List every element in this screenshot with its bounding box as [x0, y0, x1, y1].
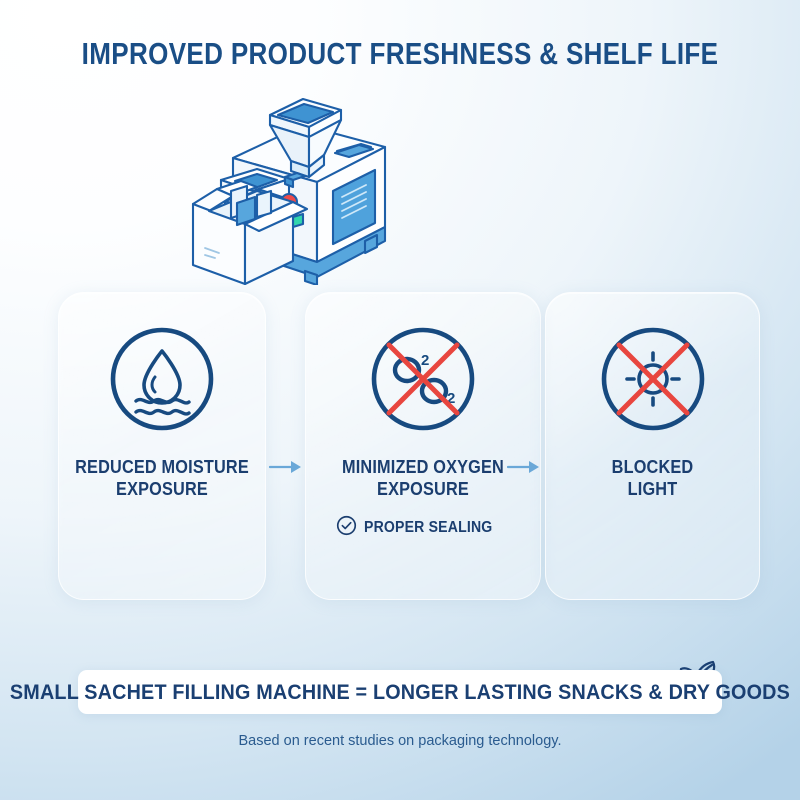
arrow-card1-to-card2	[269, 458, 303, 481]
svg-text:2: 2	[421, 352, 429, 369]
water-droplet-icon	[59, 325, 265, 433]
no-oxygen-icon: 2 2	[306, 325, 540, 433]
arrow-card2-to-card3	[507, 458, 541, 481]
status-badge-proper-sealing: PROPER SEALING	[306, 515, 540, 541]
card-label: BLOCKED LIGHT	[559, 456, 746, 500]
benefit-cards-row: REDUCED MOISTURE EXPOSURE 2 2 MINIMIZED …	[0, 292, 800, 602]
card-reduced-moisture[interactable]: REDUCED MOISTURE EXPOSURE	[58, 292, 266, 600]
card-label: REDUCED MOISTURE EXPOSURE	[71, 456, 252, 500]
no-sunlight-icon	[546, 325, 759, 433]
badge-label: PROPER SEALING	[364, 519, 492, 537]
banner-text: SMALL SACHET FILLING MACHINE = LONGER LA…	[10, 680, 790, 705]
sachet-filling-machine-illustration	[185, 85, 420, 285]
card-label: MINIMIZED OXYGEN EXPOSURE	[320, 456, 526, 500]
check-circle-icon	[336, 515, 357, 541]
card-minimized-oxygen[interactable]: 2 2 MINIMIZED OXYGEN EXPOSURE PROPER SEA…	[305, 292, 541, 600]
source-caption: Based on recent studies on packaging tec…	[0, 733, 800, 749]
page-title: IMPROVED PRODUCT FRESHNESS & SHELF LIFE	[64, 36, 736, 72]
summary-banner: SMALL SACHET FILLING MACHINE = LONGER LA…	[78, 670, 722, 714]
card-blocked-light[interactable]: BLOCKED LIGHT	[545, 292, 760, 600]
